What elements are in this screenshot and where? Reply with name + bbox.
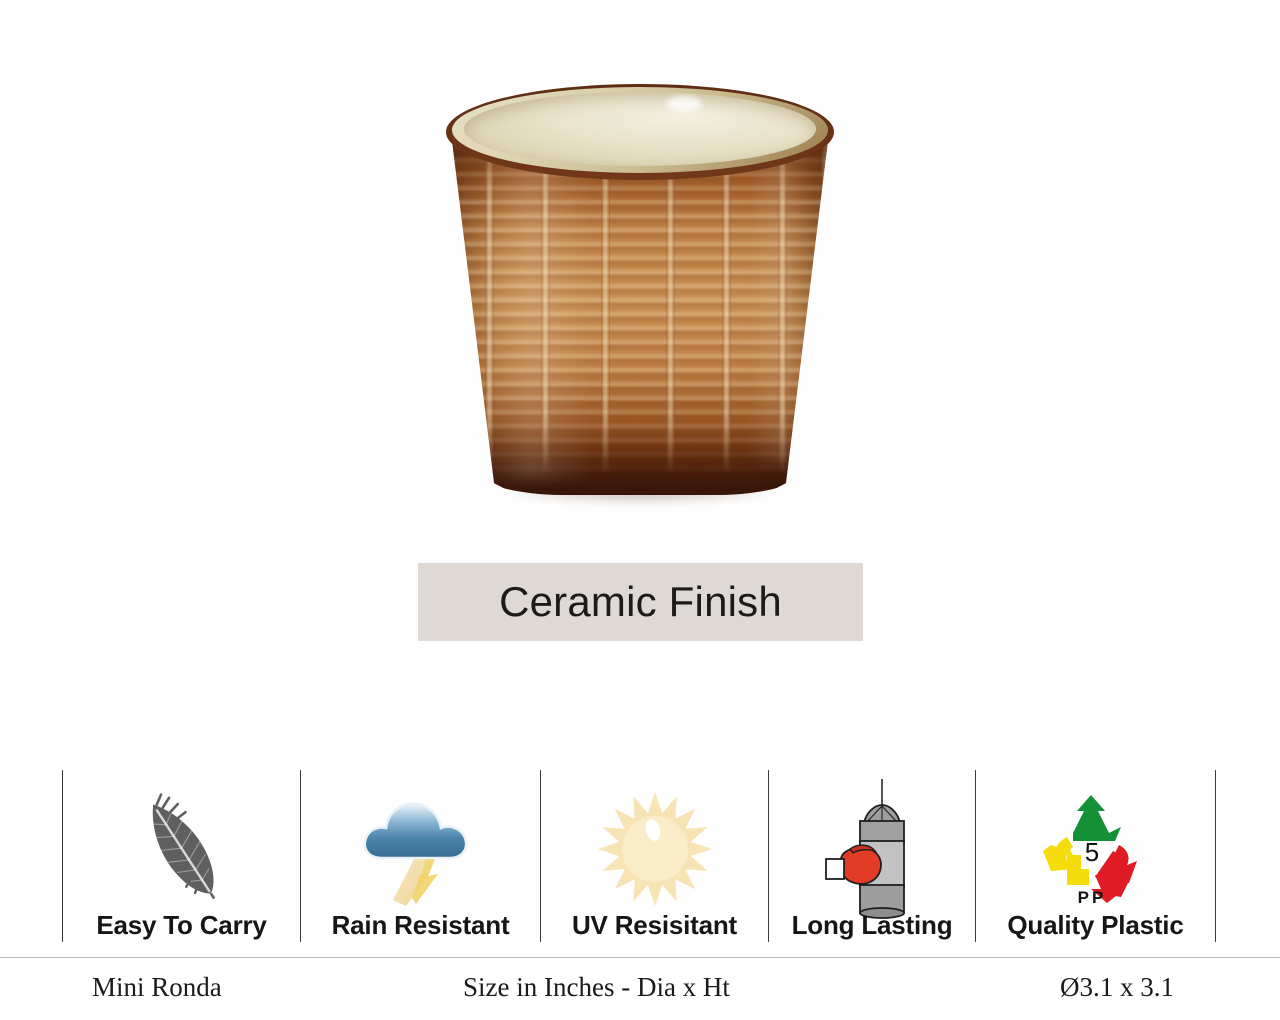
- product-dimensions: Ø3.1 x 3.1: [1060, 972, 1174, 1003]
- feature-long-lasting: Long Lasting: [769, 762, 975, 947]
- pot-interior: [464, 92, 816, 166]
- feature-easy-to-carry: Easy To Carry: [63, 762, 300, 947]
- product-name: Mini Ronda: [92, 972, 222, 1003]
- recycling-pp-icon: 5 PP: [1037, 788, 1155, 910]
- feature-label: Long Lasting: [792, 910, 953, 947]
- feature-row: Easy To Carry: [0, 762, 1280, 947]
- sun-icon: [596, 788, 714, 910]
- size-label: Size in Inches - Dia x Ht: [463, 972, 730, 1003]
- feature-label: Quality Plastic: [1007, 910, 1183, 947]
- feature-rain-resistant: Rain Resistant: [301, 762, 540, 947]
- planter-pot-image: [430, 78, 850, 528]
- svg-text:PP: PP: [1077, 888, 1106, 907]
- feature-divider: [1215, 770, 1216, 942]
- product-image-area: [0, 0, 1280, 545]
- pot-gloss-highlight-right: [748, 124, 809, 464]
- feature-label: UV Resisitant: [572, 910, 737, 947]
- cloud-lightning-icon: [358, 788, 484, 910]
- feature-label: Easy To Carry: [96, 910, 266, 947]
- svg-text:5: 5: [1084, 837, 1098, 867]
- feature-uv-resistant: UV Resisitant: [541, 762, 768, 947]
- feature-quality-plastic: 5 PP Quality Plastic: [976, 762, 1215, 947]
- punching-bag-glove-icon: [820, 788, 924, 910]
- product-feature-sheet: Ceramic Finish: [0, 0, 1280, 1020]
- feature-label: Rain Resistant: [332, 910, 510, 947]
- caption-bar: Mini Ronda Size in Inches - Dia x Ht Ø3.…: [0, 958, 1280, 1020]
- finish-band: Ceramic Finish: [418, 563, 863, 641]
- finish-label: Ceramic Finish: [499, 578, 782, 626]
- feather-icon: [128, 788, 236, 910]
- pot-interior-specular: [666, 96, 702, 112]
